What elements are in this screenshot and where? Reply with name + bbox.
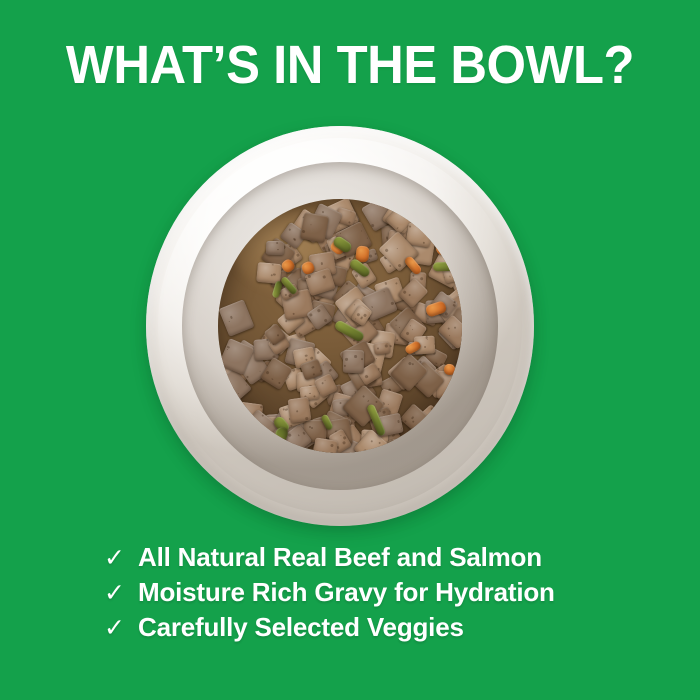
- meat-speck: [361, 230, 363, 232]
- meat-speck: [448, 327, 451, 330]
- meat-speck: [251, 416, 254, 419]
- meat-speck: [454, 326, 457, 329]
- meat-speck: [397, 227, 399, 229]
- meat-speck: [298, 435, 300, 437]
- meat-speck: [344, 365, 346, 367]
- meat-speck: [329, 369, 332, 372]
- meat-speck: [354, 355, 356, 357]
- meat-speck: [307, 275, 310, 278]
- meat-speck: [333, 290, 334, 291]
- meat-speck: [408, 293, 411, 296]
- meat-speck: [312, 427, 314, 429]
- meat-speck: [230, 315, 234, 319]
- meat-speck: [402, 290, 406, 294]
- meat-speck: [338, 226, 340, 228]
- meat-speck: [289, 229, 291, 231]
- meat-speck: [374, 252, 376, 254]
- bowl-interior: [182, 162, 499, 490]
- meat-speck: [423, 241, 426, 244]
- meat-speck: [411, 363, 414, 366]
- meat-speck: [452, 258, 454, 260]
- meat-speck: [276, 334, 279, 337]
- meat-speck: [434, 440, 437, 443]
- meat-speck: [342, 435, 346, 439]
- meat-speck: [416, 440, 418, 442]
- meat-speck: [388, 403, 389, 404]
- meat-speck: [320, 262, 323, 265]
- meat-speck: [316, 351, 320, 355]
- meat-speck: [440, 423, 443, 426]
- meat-speck: [272, 343, 274, 345]
- meat-speck: [371, 223, 375, 227]
- meat-speck: [304, 354, 307, 357]
- meat-speck: [435, 363, 437, 365]
- feature-list: ✓ All Natural Real Beef and Salmon ✓ Moi…: [0, 543, 700, 648]
- meat-speck: [271, 378, 273, 380]
- meat-speck: [310, 223, 312, 225]
- meat-chunk: [288, 397, 312, 424]
- meat-speck: [306, 358, 309, 361]
- meat-speck: [430, 407, 434, 411]
- meat-speck: [440, 406, 442, 408]
- meat-speck: [402, 213, 405, 216]
- meat-speck: [360, 316, 363, 319]
- meat-speck: [454, 275, 456, 277]
- meat-speck: [309, 312, 313, 316]
- meat-speck: [321, 381, 324, 384]
- meat-speck: [350, 211, 351, 212]
- meat-speck: [410, 416, 414, 420]
- meat-speck: [376, 357, 377, 358]
- dog-food-bowl-photo: [146, 126, 536, 530]
- meat-speck: [349, 257, 351, 259]
- meat-speck: [292, 313, 294, 315]
- meat-chunk: [219, 299, 255, 337]
- meat-speck: [377, 348, 380, 351]
- meat-speck: [259, 370, 261, 372]
- meat-speck: [451, 411, 453, 413]
- promo-poster: WHAT’S IN THE BOWL? ✓ All Natural Real B…: [0, 0, 700, 700]
- meat-speck: [438, 397, 439, 398]
- meat-speck: [361, 358, 363, 360]
- meat-speck: [297, 411, 299, 413]
- meat-speck: [371, 356, 373, 358]
- meat-speck: [272, 264, 274, 266]
- meat-speck: [227, 349, 229, 351]
- meat-speck: [410, 325, 412, 327]
- meat-speck: [375, 401, 378, 404]
- meat-chunk: [313, 437, 338, 453]
- meat-speck: [313, 396, 315, 398]
- food-contents: [218, 199, 461, 453]
- meat-speck: [284, 408, 288, 412]
- meat-speck: [278, 248, 280, 250]
- meat-speck: [322, 211, 325, 214]
- meat-speck: [424, 345, 426, 347]
- meat-speck: [353, 304, 355, 306]
- meat-speck: [301, 230, 305, 234]
- meat-speck: [431, 427, 433, 429]
- meat-speck: [339, 434, 340, 435]
- meat-speck: [330, 444, 334, 448]
- meat-speck: [397, 213, 399, 215]
- meat-speck: [276, 241, 279, 244]
- meat-speck: [345, 282, 349, 286]
- meat-speck: [322, 276, 325, 279]
- meat-speck: [368, 376, 370, 378]
- meat-speck: [392, 434, 396, 438]
- meat-speck: [238, 392, 240, 394]
- check-icon: ✓: [104, 614, 138, 642]
- meat-speck: [339, 232, 341, 234]
- meat-speck: [314, 402, 318, 406]
- meat-speck: [259, 405, 262, 408]
- meat-speck: [356, 219, 357, 220]
- meat-speck: [345, 358, 348, 361]
- meat-speck: [246, 417, 248, 419]
- meat-speck: [290, 425, 292, 427]
- meat-speck: [339, 401, 341, 403]
- meat-speck: [401, 443, 403, 445]
- meat-speck: [305, 278, 307, 280]
- meat-speck: [384, 290, 386, 292]
- list-item: ✓ Carefully Selected Veggies: [0, 613, 700, 641]
- meat-speck: [427, 318, 429, 320]
- meat-speck: [253, 426, 256, 429]
- meat-speck: [369, 258, 370, 259]
- meat-speck: [394, 318, 397, 321]
- meat-speck: [269, 343, 271, 345]
- meat-speck: [442, 401, 444, 403]
- meat-speck: [240, 410, 243, 413]
- meat-speck: [306, 417, 309, 420]
- meat-speck: [317, 309, 320, 312]
- green-bean-piece: [433, 261, 461, 270]
- meat-speck: [261, 441, 263, 443]
- meat-speck: [246, 384, 248, 386]
- meat-speck: [273, 273, 276, 276]
- meat-speck: [229, 321, 231, 323]
- check-icon: ✓: [104, 544, 138, 572]
- meat-speck: [285, 294, 287, 296]
- meat-speck: [411, 419, 415, 423]
- meat-speck: [362, 395, 365, 398]
- meat-chunk: [266, 240, 284, 255]
- meat-speck: [366, 279, 368, 281]
- meat-speck: [366, 237, 368, 239]
- meat-speck: [449, 334, 452, 337]
- meat-speck: [266, 371, 270, 375]
- meat-speck: [348, 221, 350, 223]
- meat-speck: [302, 432, 305, 435]
- meat-speck: [342, 440, 346, 444]
- meat-speck: [312, 373, 315, 376]
- page-title: WHAT’S IN THE BOWL?: [21, 36, 679, 94]
- meat-speck: [312, 328, 314, 330]
- list-item: ✓ All Natural Real Beef and Salmon: [0, 543, 700, 571]
- list-item-label: Moisture Rich Gravy for Hydration: [138, 578, 555, 606]
- meat-chunk: [343, 350, 364, 373]
- meat-speck: [267, 436, 270, 439]
- meat-speck: [406, 331, 410, 335]
- check-icon: ✓: [104, 579, 138, 607]
- meat-speck: [261, 414, 264, 417]
- meat-speck: [358, 432, 359, 433]
- meat-speck: [449, 382, 452, 385]
- meat-speck: [319, 370, 322, 373]
- meat-speck: [363, 449, 367, 453]
- meat-speck: [287, 433, 291, 437]
- meat-speck: [443, 416, 446, 419]
- meat-speck: [382, 410, 386, 414]
- meat-speck: [354, 273, 358, 277]
- meat-speck: [407, 361, 411, 365]
- meat-speck: [401, 428, 402, 429]
- meat-speck: [412, 329, 414, 331]
- meat-speck: [404, 420, 407, 423]
- meat-speck: [372, 306, 374, 308]
- meat-speck: [296, 253, 300, 257]
- meat-speck: [246, 376, 249, 379]
- meat-chunk: [452, 415, 462, 442]
- meat-chunk: [299, 212, 329, 244]
- meat-speck: [330, 452, 333, 453]
- meat-speck: [368, 254, 372, 258]
- meat-speck: [451, 346, 453, 348]
- meat-speck: [378, 441, 381, 444]
- meat-speck: [426, 339, 427, 340]
- meat-speck: [323, 364, 325, 366]
- meat-speck: [391, 301, 394, 304]
- list-item-label: Carefully Selected Veggies: [138, 613, 464, 641]
- meat-speck: [410, 225, 412, 227]
- list-item-label: All Natural Real Beef and Salmon: [138, 543, 542, 571]
- meat-speck: [410, 210, 412, 212]
- list-item: ✓ Moisture Rich Gravy for Hydration: [0, 578, 700, 606]
- meat-speck: [425, 227, 427, 229]
- meat-speck: [396, 339, 398, 341]
- meat-speck: [397, 264, 401, 268]
- meat-speck: [311, 366, 314, 369]
- meat-speck: [455, 383, 456, 384]
- bowl-rim: [146, 126, 534, 526]
- meat-speck: [449, 275, 451, 277]
- meat-speck: [420, 276, 423, 279]
- meat-speck: [324, 379, 326, 381]
- meat-speck: [397, 420, 400, 423]
- meat-speck: [395, 324, 397, 326]
- meat-speck: [363, 313, 367, 317]
- meat-speck: [398, 326, 400, 328]
- meat-speck: [459, 388, 462, 392]
- meat-speck: [412, 274, 414, 276]
- meat-speck: [396, 282, 399, 285]
- meat-speck: [368, 400, 370, 402]
- meat-speck: [433, 343, 435, 345]
- meat-speck: [452, 303, 456, 307]
- meat-speck: [385, 248, 389, 252]
- meat-speck: [460, 367, 461, 369]
- meat-speck: [309, 393, 311, 395]
- meat-speck: [370, 440, 373, 443]
- meat-speck: [278, 381, 281, 384]
- meat-speck: [323, 318, 327, 322]
- meat-speck: [372, 322, 375, 325]
- meat-speck: [355, 318, 357, 320]
- meat-speck: [385, 345, 388, 348]
- meat-speck: [396, 248, 398, 250]
- meat-speck: [452, 379, 454, 381]
- meat-speck: [384, 282, 387, 285]
